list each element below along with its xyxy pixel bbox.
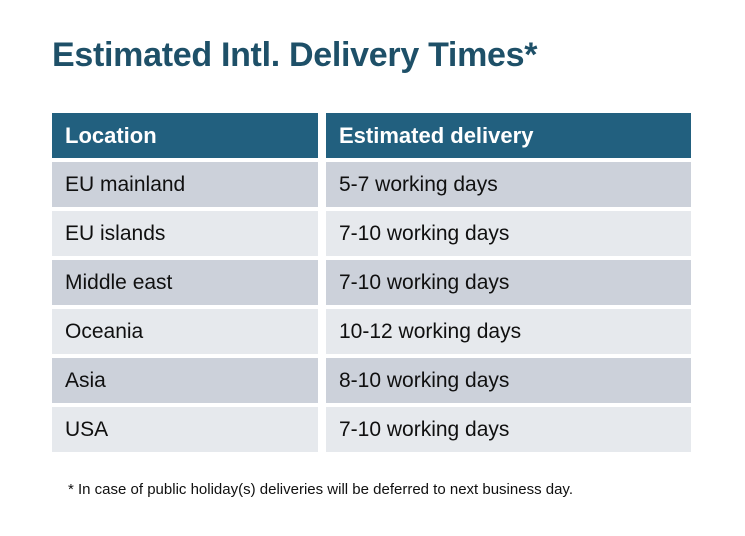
- delivery-times-page: Estimated Intl. Delivery Times* Location…: [0, 0, 745, 536]
- cell-estimated-delivery: 7-10 working days: [326, 211, 691, 256]
- column-header-location: Location: [52, 113, 318, 158]
- cell-location: Oceania: [52, 309, 318, 354]
- table-row: Middle east 7-10 working days: [52, 260, 691, 305]
- page-title: Estimated Intl. Delivery Times*: [52, 36, 537, 75]
- column-header-estimated-delivery: Estimated delivery: [326, 113, 691, 158]
- cell-estimated-delivery: 7-10 working days: [326, 260, 691, 305]
- table-row: Oceania 10-12 working days: [52, 309, 691, 354]
- cell-location: Middle east: [52, 260, 318, 305]
- table-row: Asia 8-10 working days: [52, 358, 691, 403]
- cell-estimated-delivery: 10-12 working days: [326, 309, 691, 354]
- cell-location: EU islands: [52, 211, 318, 256]
- footnote: * In case of public holiday(s) deliverie…: [68, 481, 573, 498]
- cell-estimated-delivery: 5-7 working days: [326, 162, 691, 207]
- table-row: EU mainland 5-7 working days: [52, 162, 691, 207]
- table-row: USA 7-10 working days: [52, 407, 691, 452]
- cell-estimated-delivery: 8-10 working days: [326, 358, 691, 403]
- table-header-row: Location Estimated delivery: [52, 113, 691, 158]
- cell-estimated-delivery: 7-10 working days: [326, 407, 691, 452]
- cell-location: USA: [52, 407, 318, 452]
- table-row: EU islands 7-10 working days: [52, 211, 691, 256]
- cell-location: EU mainland: [52, 162, 318, 207]
- delivery-times-table: Location Estimated delivery EU mainland …: [52, 113, 691, 452]
- cell-location: Asia: [52, 358, 318, 403]
